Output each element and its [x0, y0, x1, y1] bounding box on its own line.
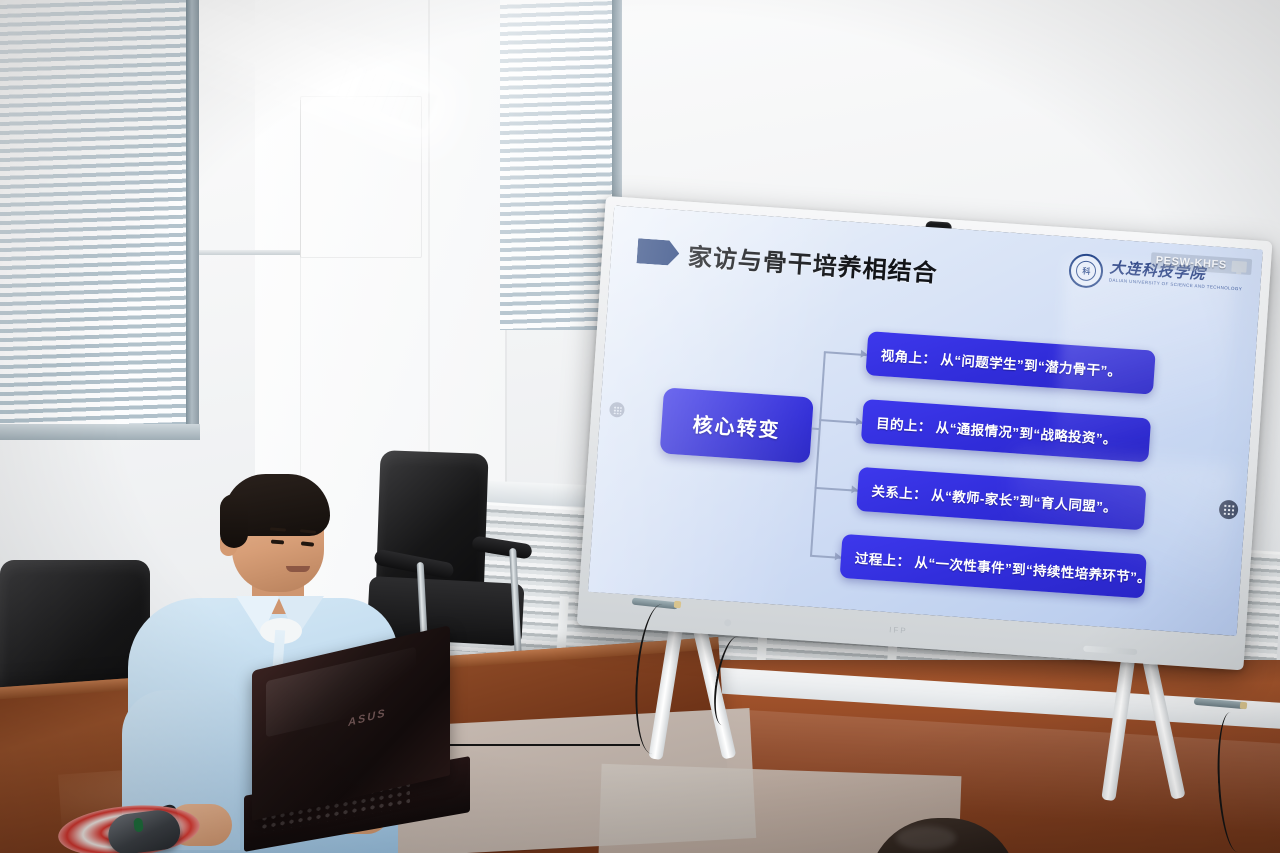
display-panel-frame: 家访与骨干培养相结合 科 大连科技学院 DALIAN UNIVERSITY OF… — [588, 206, 1263, 636]
mouse-scroll-wheel[interactable] — [133, 818, 144, 833]
window-sill — [0, 424, 200, 440]
photo-scene: IFP 家访与骨干培养相结合 科 大连科 — [0, 0, 1280, 853]
diagram-branch-node: 过程上： 从“一次性事件”到“持续性培养环节”。 — [840, 534, 1147, 599]
diagram-branch-node: 视角上： 从“问题学生”到“潜力骨干”。 — [865, 331, 1155, 394]
diagram-branch-label: 目的上： 从“通报情况”到“战略投资”。 — [876, 412, 1118, 448]
window-glare — [0, 0, 196, 430]
diagram-branch-node: 目的上： 从“通报情况”到“战略投资”。 — [861, 399, 1151, 462]
ir-sensor-icon — [724, 619, 731, 626]
diagram-branch-label: 关系上： 从“教师-家长”到“育人同盟”。 — [871, 480, 1118, 517]
audience-head-highlight — [896, 826, 956, 850]
diagram-branch-node: 关系上： 从“教师-家长”到“育人同盟”。 — [856, 467, 1146, 530]
display-bezel: IFP 家访与骨干培养相结合 科 大连科 — [577, 196, 1273, 670]
diagram-core-label: 核心转变 — [692, 408, 782, 443]
diagram-branch-label: 过程上： 从“一次性事件”到“持续性培养环节”。 — [854, 547, 1152, 587]
diagram-branch-label: 视角上： 从“问题学生”到“潜力骨干”。 — [880, 344, 1122, 380]
bezel-accent — [1083, 646, 1137, 656]
grid-dots-icon — [613, 405, 622, 414]
stylus-cap — [1240, 702, 1248, 710]
laptop[interactable]: ASUS — [252, 648, 462, 828]
stylus-cap — [674, 601, 682, 609]
presenter-eye — [271, 540, 284, 545]
grid-dots-icon — [1223, 504, 1235, 516]
connector-spine — [810, 352, 825, 556]
slide-canvas[interactable]: 家访与骨干培养相结合 科 大连科技学院 DALIAN UNIVERSITY OF… — [588, 206, 1263, 636]
diagram-core-node: 核心转变 — [660, 387, 814, 463]
window-frame — [186, 0, 199, 440]
slide-diagram: 核心转变 视角上： 从“问题学生”到“潜力骨干”。 — [588, 206, 1263, 636]
window-left — [0, 0, 196, 430]
presenter-hair — [220, 494, 248, 548]
presenter-mouth — [286, 566, 310, 572]
display-brand: IFP — [889, 625, 908, 635]
interactive-display[interactable]: IFP 家访与骨干培养相结合 科 大连科 — [577, 196, 1273, 670]
